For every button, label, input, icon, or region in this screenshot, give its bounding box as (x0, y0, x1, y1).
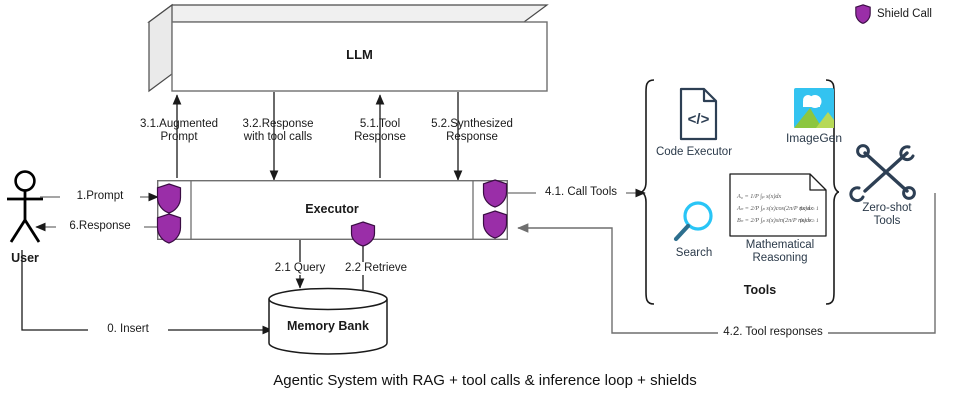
tool-search-label: Search (662, 247, 726, 260)
formula-document-icon: A₀ = 1/P ∫ₚ s(x)dx Aₙ = 2/P ∫ₚ s(x)cos(2… (722, 172, 838, 238)
image-icon (772, 86, 856, 130)
svg-text:for n ≥ 1: for n ≥ 1 (800, 205, 819, 212)
diagram-caption: Agentic System with RAG + tool calls & i… (0, 374, 970, 387)
code-document-icon: </> (648, 86, 740, 144)
tool-zero-shot-label: Zero-shot Tools (845, 202, 929, 228)
shield-icon-memory-retrieve[interactable] (352, 222, 375, 246)
svg-text:</>: </> (688, 111, 710, 128)
stick-figure-icon (4, 170, 60, 250)
tool-imagegen-label: ImageGen (772, 132, 856, 145)
user-label: User (2, 252, 48, 265)
shield-icon-tool-call-out[interactable] (484, 180, 507, 207)
shield-icon-outbound-response[interactable] (158, 214, 181, 243)
user-node[interactable]: User (4, 170, 60, 250)
tool-zero-shot[interactable]: Zero-shot Tools (845, 143, 929, 228)
tool-code-executor[interactable]: </> Code Executor (648, 86, 740, 159)
memory-bank-node[interactable]: Memory Bank (268, 288, 388, 354)
tool-mathematical-reasoning[interactable]: A₀ = 1/P ∫ₚ s(x)dx Aₙ = 2/P ∫ₚ s(x)cos(2… (722, 172, 838, 265)
memory-bank-label: Memory Bank (268, 320, 388, 333)
magnifier-icon (662, 198, 726, 246)
tool-code-executor-label: Code Executor (648, 146, 740, 159)
shield-icon-tool-response-in[interactable] (484, 211, 507, 238)
tool-search[interactable]: Search (662, 198, 726, 260)
svg-text:A₀ = 1/P ∫ₚ s(x)dx: A₀ = 1/P ∫ₚ s(x)dx (736, 193, 781, 200)
tools-group-label: Tools (700, 284, 820, 297)
tool-imagegen[interactable]: ImageGen (772, 86, 856, 145)
crossed-wrenches-icon (845, 143, 929, 201)
shield-icon-inbound-prompt[interactable] (158, 184, 181, 213)
svg-text:for n ≥ 1: for n ≥ 1 (800, 217, 819, 224)
tool-mathematical-reasoning-label: Mathematical Reasoning (722, 239, 838, 265)
